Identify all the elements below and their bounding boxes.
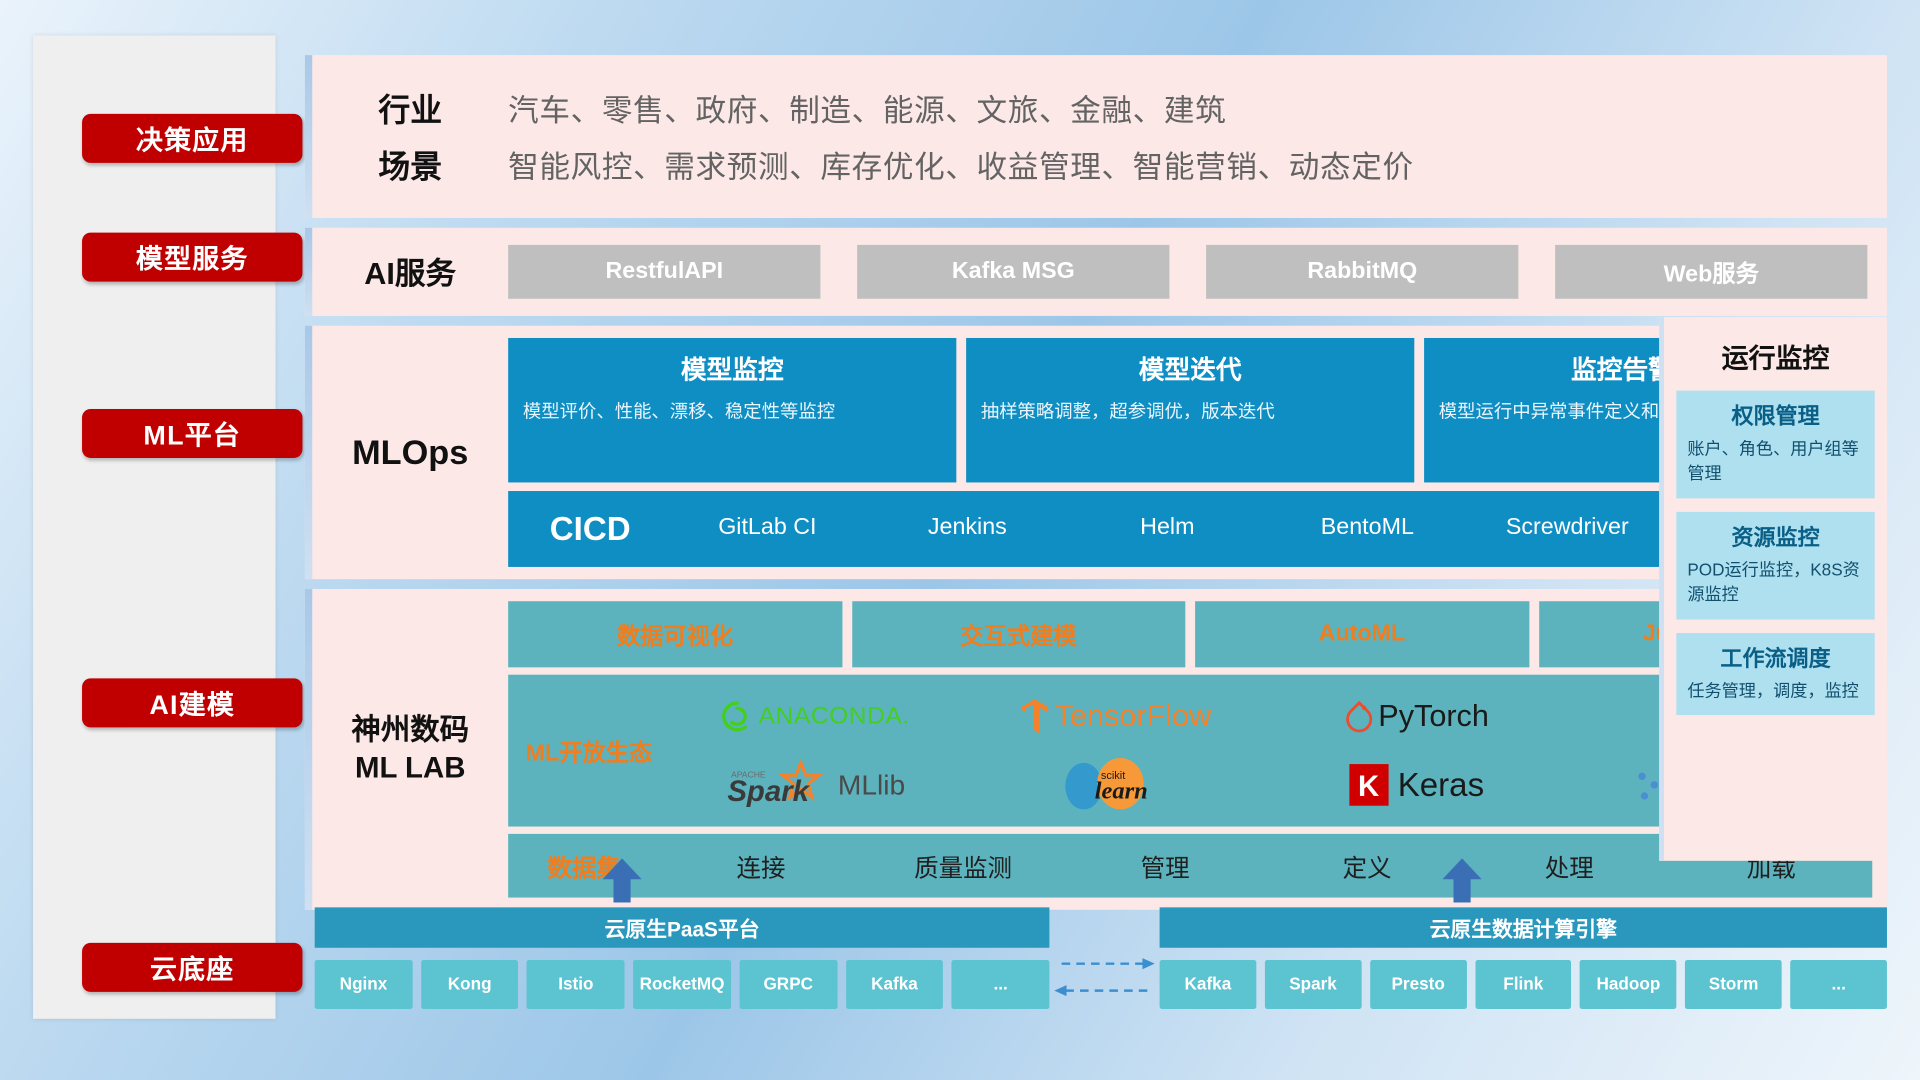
- monitor-card-desc: POD运行监控，K8S资源监控: [1687, 558, 1863, 607]
- engine-chip-flink[interactable]: Flink: [1475, 960, 1572, 1009]
- keras-label: Keras: [1398, 766, 1484, 804]
- cloud-chip-grpc[interactable]: GRPC: [739, 960, 837, 1009]
- arrow-up-paas-icon: [601, 858, 643, 902]
- ml-lab-label: 神州数码 ML LAB: [312, 711, 508, 787]
- rail-item-model-serve[interactable]: 模型服务: [82, 233, 302, 282]
- ai-service-band: AI服务 RestfulAPI Kafka MSG RabbitMQ Web服务: [305, 228, 1887, 316]
- mlops-card-desc: 模型评价、性能、漂移、稳定性等监控: [523, 399, 942, 425]
- monitor-card-desc: 任务管理，调度，监控: [1687, 679, 1863, 703]
- cicd-item-helm[interactable]: Helm: [1067, 491, 1267, 545]
- cloud-engine-column: 云原生数据计算引擎 Kafka Spark Presto Flink Hadoo…: [1160, 907, 1887, 1009]
- cicd-item-bentoml[interactable]: BentoML: [1267, 491, 1467, 545]
- ai-modeling-band: 神州数码 ML LAB 数据可视化 交互式建模 AutoML JupyterLa…: [305, 589, 1887, 910]
- svg-text:APACHE: APACHE: [731, 770, 766, 780]
- ml-lab-label-line2: ML LAB: [312, 749, 508, 787]
- pytorch-label: PyTorch: [1378, 699, 1489, 735]
- cloud-engine-chip-group: Kafka Spark Presto Flink Hadoop Storm ..…: [1160, 960, 1887, 1009]
- monitor-card-resource[interactable]: 资源监控 POD运行监控，K8S资源监控: [1676, 512, 1874, 619]
- rail-item-ai-modeling[interactable]: AI建模: [82, 678, 302, 727]
- monitor-card-title: 权限管理: [1687, 399, 1863, 431]
- cloud-chip-kong[interactable]: Kong: [421, 960, 519, 1009]
- mlops-label: MLOps: [312, 433, 508, 472]
- cloud-chip-nginx[interactable]: Nginx: [315, 960, 413, 1009]
- cloud-chip-more[interactable]: ...: [952, 960, 1050, 1009]
- cicd-item-jenkins[interactable]: Jenkins: [867, 491, 1067, 545]
- scenario-key-industry: 行业: [312, 86, 508, 131]
- spark-mllib-logo: Spark APACHE MLlib: [725, 760, 905, 809]
- ml-ecosystem-title: ML开放生态: [513, 734, 665, 767]
- mlops-card-title: 模型迭代: [981, 350, 1400, 387]
- monitor-card-desc: 账户、角色、用户组等管理: [1687, 437, 1863, 486]
- runtime-monitor-panel: 运行监控 权限管理 账户、角色、用户组等管理 资源监控 POD运行监控，K8S资…: [1659, 317, 1887, 861]
- scenario-value-industry: 汽车、零售、政府、制造、能源、文旅、金融、建筑: [508, 86, 1226, 130]
- tensorflow-logo: TensorFlow: [1020, 698, 1211, 735]
- ai-service-chip-group: RestfulAPI Kafka MSG RabbitMQ Web服务: [508, 245, 1867, 299]
- cloud-chip-istio[interactable]: Istio: [527, 960, 625, 1009]
- cloud-paas-column: 云原生PaaS平台 Nginx Kong Istio RocketMQ GRPC…: [315, 907, 1050, 1009]
- pytorch-logo: PyTorch: [1344, 699, 1489, 735]
- monitor-card-title: 工作流调度: [1687, 641, 1863, 673]
- svg-text:Spark: Spark: [728, 775, 811, 808]
- lab-tool-automl[interactable]: AutoML: [1195, 601, 1529, 667]
- keras-logo: K Keras: [1349, 763, 1484, 807]
- scenario-value-usecase: 智能风控、需求预测、库存优化、收益管理、智能营销、动态定价: [508, 143, 1414, 187]
- mlops-card-model-monitor[interactable]: 模型监控 模型评价、性能、漂移、稳定性等监控: [508, 338, 956, 482]
- monitor-card-workflow[interactable]: 工作流调度 任务管理，调度，监控: [1676, 632, 1874, 715]
- scenario-key-usecase: 场景: [312, 142, 508, 187]
- architecture-main: 行业 汽车、零售、政府、制造、能源、文旅、金融、建筑 场景 智能风控、需求预测、…: [305, 55, 1887, 919]
- scikit-learn-logo: scikit learn: [1057, 757, 1175, 813]
- rail-item-decision[interactable]: 决策应用: [82, 114, 302, 163]
- ai-service-chip-rabbitmq[interactable]: RabbitMQ: [1206, 245, 1518, 299]
- lab-tool-interactive-modeling[interactable]: 交互式建模: [852, 601, 1186, 667]
- cicd-title: CICD: [513, 510, 667, 548]
- ai-service-chip-restfulapi[interactable]: RestfulAPI: [508, 245, 820, 299]
- mllib-label: MLlib: [838, 768, 905, 801]
- ai-service-chip-kafka-msg[interactable]: Kafka MSG: [857, 245, 1169, 299]
- engine-chip-spark[interactable]: Spark: [1265, 960, 1362, 1009]
- cloud-chip-kafka[interactable]: Kafka: [846, 960, 944, 1009]
- arrow-up-engine-icon: [1441, 858, 1483, 902]
- mlops-card-title: 模型监控: [523, 350, 942, 387]
- runtime-monitor-title: 运行监控: [1676, 337, 1874, 376]
- engine-chip-more[interactable]: ...: [1790, 960, 1887, 1009]
- engine-chip-hadoop[interactable]: Hadoop: [1580, 960, 1677, 1009]
- svg-text:K: K: [1359, 770, 1380, 803]
- cloud-chip-rocketmq[interactable]: RocketMQ: [633, 960, 731, 1009]
- cicd-item-gitlab-ci[interactable]: GitLab CI: [667, 491, 867, 545]
- cloud-foundation-zone: 云原生PaaS平台 Nginx Kong Istio RocketMQ GRPC…: [305, 873, 1887, 1020]
- ai-service-chip-web[interactable]: Web服务: [1555, 245, 1867, 299]
- monitor-card-title: 资源监控: [1687, 520, 1863, 552]
- layer-rail: 决策应用 模型服务 ML平台 AI建模 云底座: [33, 36, 275, 1019]
- cloud-engine-title: 云原生数据计算引擎: [1160, 907, 1887, 947]
- ml-lab-label-line1: 神州数码: [312, 711, 508, 749]
- mlops-band: MLOps 模型监控 模型评价、性能、漂移、稳定性等监控 模型迭代 抽样策略调整…: [305, 326, 1887, 579]
- lab-tool-data-visualization[interactable]: 数据可视化: [508, 601, 842, 667]
- rail-item-cloud-base[interactable]: 云底座: [82, 943, 302, 992]
- rail-item-ml-platform[interactable]: ML平台: [82, 409, 302, 458]
- scenario-row-usecase: 场景 智能风控、需求预测、库存优化、收益管理、智能营销、动态定价: [312, 142, 1874, 187]
- monitor-card-permission[interactable]: 权限管理 账户、角色、用户组等管理: [1676, 391, 1874, 498]
- anaconda-logo: ANACONDA.: [721, 700, 910, 732]
- scenario-band: 行业 汽车、零售、政府、制造、能源、文旅、金融、建筑 场景 智能风控、需求预测、…: [305, 55, 1887, 218]
- mlops-card-model-iteration[interactable]: 模型迭代 抽样策略调整，超参调优，版本迭代: [966, 338, 1414, 482]
- mlops-card-desc: 抽样策略调整，超参调优，版本迭代: [981, 399, 1400, 425]
- cloud-paas-title: 云原生PaaS平台: [315, 907, 1050, 947]
- scenario-row-industry: 行业 汽车、零售、政府、制造、能源、文旅、金融、建筑: [312, 86, 1874, 131]
- cicd-item-screwdriver[interactable]: Screwdriver: [1467, 491, 1667, 545]
- bidirectional-connector-icon: [1054, 954, 1154, 1003]
- ai-service-label: AI服务: [312, 250, 508, 294]
- tensorflow-label: TensorFlow: [1055, 699, 1212, 735]
- cloud-paas-chip-group: Nginx Kong Istio RocketMQ GRPC Kafka ...: [315, 960, 1050, 1009]
- engine-chip-presto[interactable]: Presto: [1370, 960, 1467, 1009]
- anaconda-label: ANACONDA.: [759, 702, 910, 730]
- svg-text:learn: learn: [1095, 777, 1148, 804]
- engine-chip-storm[interactable]: Storm: [1685, 960, 1782, 1009]
- engine-chip-kafka[interactable]: Kafka: [1160, 960, 1257, 1009]
